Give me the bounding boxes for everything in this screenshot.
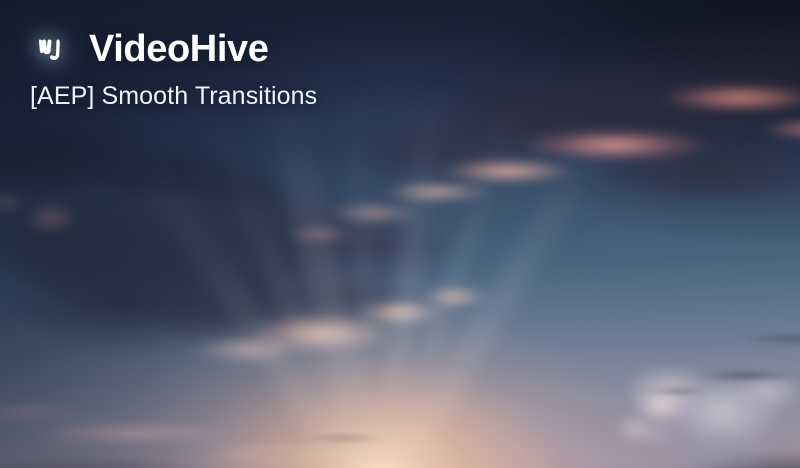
videohive-w-logo-icon [30, 26, 76, 72]
brand-overlay: VideoHive [AEP] Smooth Transitions [30, 26, 317, 111]
brand-wordmark: VideoHive [89, 30, 268, 68]
project-title: [AEP] Smooth Transitions [30, 83, 317, 111]
videohive-preview-card: VideoHive [AEP] Smooth Transitions [0, 0, 800, 468]
brand-lockup: VideoHive [30, 26, 317, 72]
